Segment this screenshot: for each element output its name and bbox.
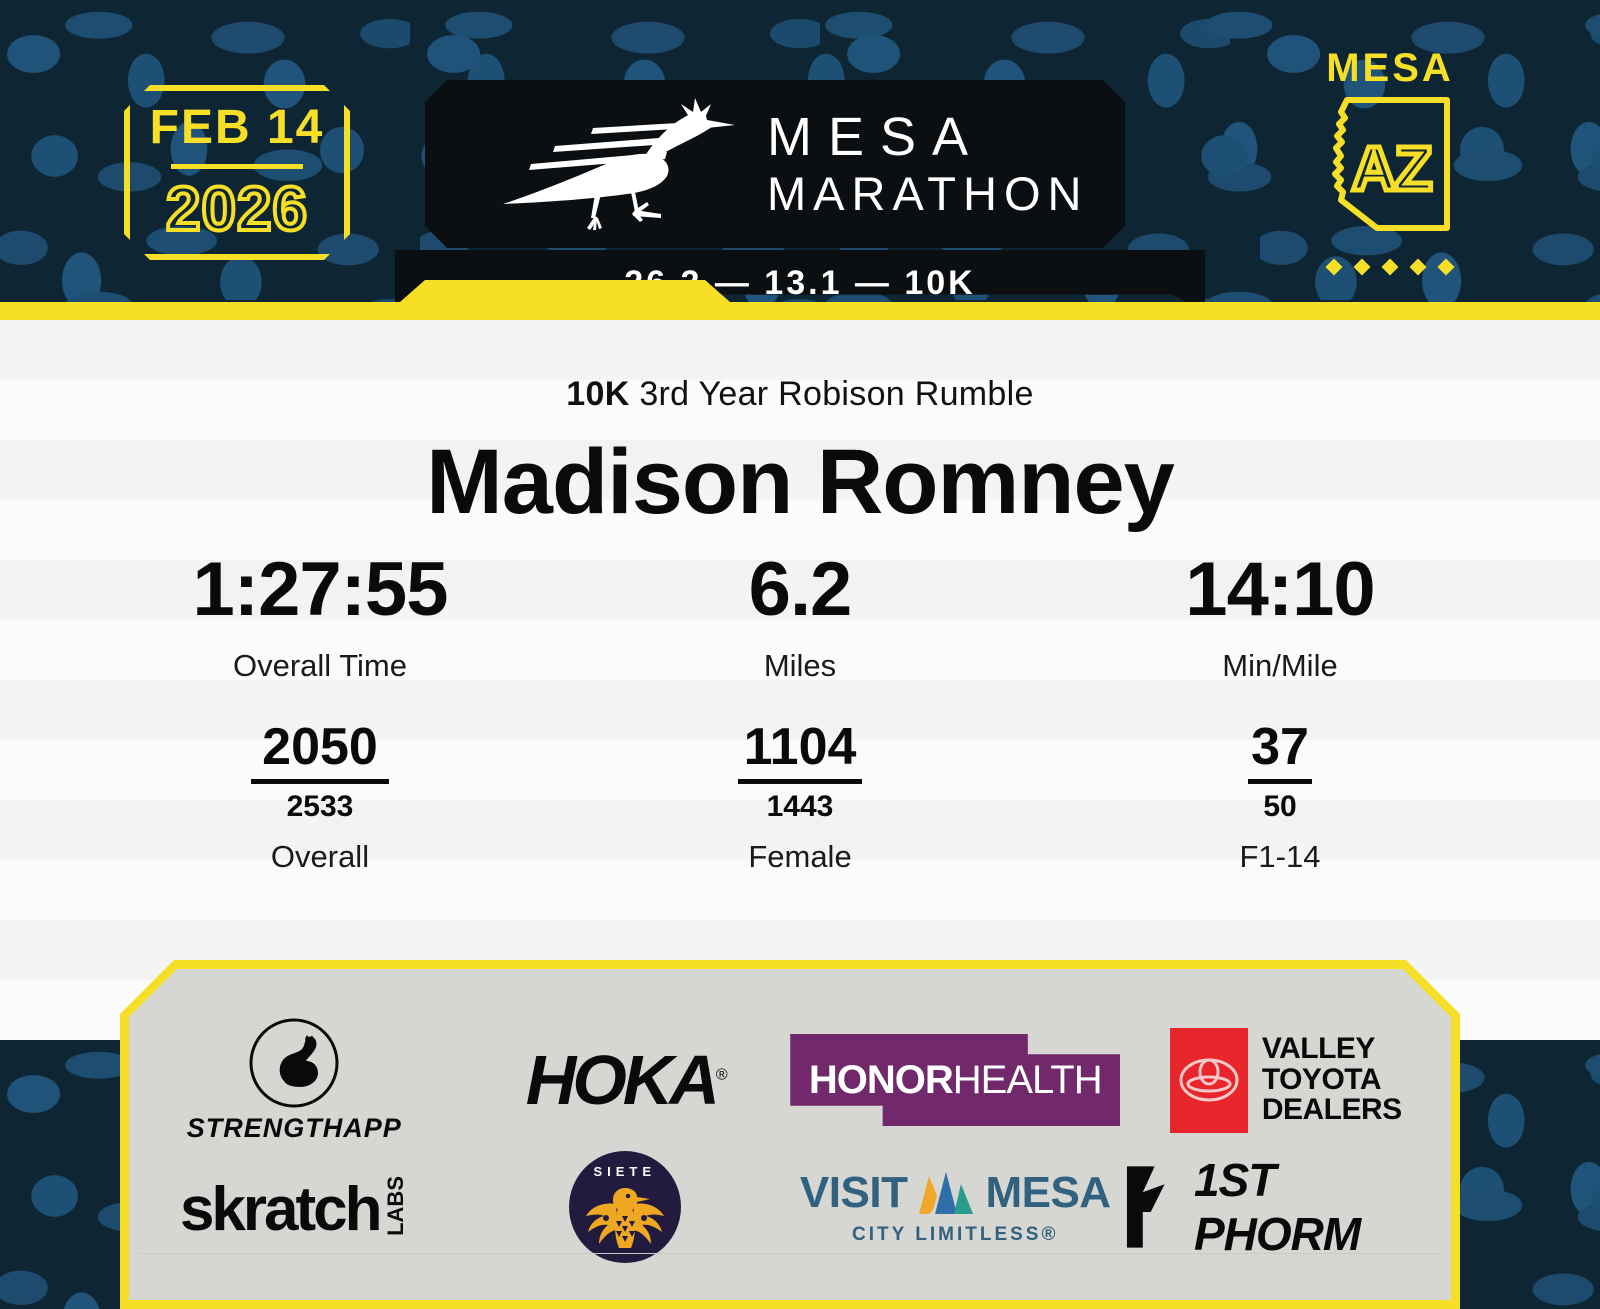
race-name-label: 3rd Year Robison Rumble <box>630 375 1034 413</box>
stat-caption: Min/Mile <box>1042 648 1517 684</box>
stat-value: 14:10 <box>1042 552 1517 628</box>
sponsor-visit-mesa: VISIT MESA CITY LIMITLESS® <box>790 1147 1121 1267</box>
date-badge-rule <box>171 164 303 169</box>
az-dot <box>1438 259 1455 276</box>
race-distance-label: 10K <box>566 375 629 413</box>
arizona-state-outline-icon: AZ <box>1305 88 1475 248</box>
rank-total: 50 <box>1042 790 1517 823</box>
athlete-name: Madison Romney <box>0 430 1600 535</box>
sponsor-1st-phorm: 1ST PHORM <box>1121 1147 1452 1267</box>
siete-bird-icon <box>582 1178 668 1252</box>
svg-text:AZ: AZ <box>1352 135 1432 204</box>
rank-divider <box>738 779 862 784</box>
sponsor-line-2: TOYOTA <box>1262 1065 1402 1096</box>
phorm-mark-icon <box>1121 1164 1178 1250</box>
sponsor-strengthapp: STRENGTHAPP <box>129 1015 460 1145</box>
rank-age-group: 37 50 F1-14 <box>1042 720 1517 875</box>
registered-mark: ® <box>716 1067 724 1084</box>
sponsor-wordmark: SIETE <box>569 1164 681 1179</box>
toyota-emblem-icon <box>1179 1057 1239 1103</box>
sponsor-wordmark: STRENGTHAPP <box>187 1113 402 1144</box>
stat-overall-time: 1:27:55 Overall Time <box>82 552 557 684</box>
sponsor-row-1: STRENGTHAPP HOKA® HONOR HEALTH <box>129 1015 1451 1145</box>
sponsor-wordmark: 1ST PHORM <box>1194 1153 1451 1261</box>
mesa-az-badge: MESA AZ <box>1305 48 1475 288</box>
stat-miles: 6.2 Miles <box>562 552 1037 684</box>
sponsor-word-visit: VISIT <box>800 1168 908 1218</box>
az-badge-dots <box>1305 261 1475 273</box>
stat-caption: Miles <box>562 648 1037 684</box>
sponsor-wordmark: HOKA <box>526 1041 716 1119</box>
rank-total: 2533 <box>82 790 557 823</box>
sponsor-panel-inner: STRENGTHAPP HOKA® HONOR HEALTH <box>129 969 1451 1300</box>
race-results-card: FEB 14 2026 <box>0 0 1600 1309</box>
sponsor-tagline: CITY LIMITLESS® <box>852 1224 1058 1246</box>
sponsor-line-3: DEALERS <box>1262 1095 1402 1126</box>
sponsor-wordmark: skratch <box>180 1182 380 1238</box>
stat-value: 1:27:55 <box>82 552 557 628</box>
sponsor-honorhealth: HONOR HEALTH <box>790 1015 1121 1145</box>
sponsor-divider <box>139 1253 1441 1254</box>
rank-label: F1-14 <box>1042 839 1517 875</box>
rank-place: 37 <box>1245 720 1315 775</box>
stat-value: 6.2 <box>562 552 1037 628</box>
sponsor-line-1: VALLEY <box>1262 1034 1402 1065</box>
sponsor-wordmark-light: HEALTH <box>953 1058 1102 1103</box>
rank-divider <box>251 779 389 784</box>
rank-place: 1104 <box>738 720 863 775</box>
mesa-marathon-wordmark: MESA MARATHON <box>767 108 1088 219</box>
logo-line-mesa: MESA <box>767 108 1088 167</box>
rank-label: Overall <box>82 839 557 875</box>
results-main-panel: 10K 3rd Year Robison Rumble Madison Romn… <box>0 320 1600 1020</box>
primary-stats-row: 1:27:55 Overall Time 6.2 Miles 14:10 Min… <box>80 552 1520 684</box>
az-badge-mesa-label: MESA <box>1305 48 1475 88</box>
sponsor-valley-toyota-dealers: VALLEY TOYOTA DEALERS <box>1121 1015 1452 1145</box>
race-date-monthday: FEB 14 <box>150 104 325 152</box>
stat-caption: Overall Time <box>82 648 557 684</box>
az-dot <box>1354 259 1371 276</box>
sponsor-panel: STRENGTHAPP HOKA® HONOR HEALTH <box>120 960 1460 1309</box>
sponsor-hoka: HOKA® <box>460 1015 791 1145</box>
logo-line-marathon: MARATHON <box>767 168 1088 220</box>
race-date-year: 2026 <box>166 179 308 241</box>
race-date-badge: FEB 14 2026 <box>124 85 350 260</box>
rank-place: 2050 <box>256 720 384 775</box>
sponsor-word-mesa: MESA <box>985 1168 1110 1218</box>
sponsor-subwordmark: LABS <box>383 1176 409 1236</box>
flexed-bicep-icon <box>248 1017 340 1109</box>
rank-divider <box>1248 779 1312 784</box>
sponsor-skratch-labs: skratch LABS <box>129 1147 460 1267</box>
stat-pace: 14:10 Min/Mile <box>1042 552 1517 684</box>
az-dot <box>1382 259 1399 276</box>
rank-label: Female <box>562 839 1037 875</box>
roadrunner-icon <box>495 94 745 234</box>
header: FEB 14 2026 <box>0 0 1600 320</box>
mesa-marathon-logo: MESA MARATHON <box>425 80 1125 248</box>
az-dot <box>1326 259 1343 276</box>
rank-overall: 2050 2533 Overall <box>82 720 557 875</box>
race-title: 10K 3rd Year Robison Rumble <box>0 375 1600 414</box>
rank-female: 1104 1443 Female <box>562 720 1037 875</box>
rank-total: 1443 <box>562 790 1037 823</box>
az-dot <box>1410 259 1427 276</box>
sponsor-wordmark-bold: HONOR <box>809 1058 953 1103</box>
placement-row: 2050 2533 Overall 1104 1443 Female 37 50… <box>80 720 1520 875</box>
sponsor-row-2: skratch LABS SIETE <box>129 1147 1451 1267</box>
mesa-mountains-icon <box>915 1170 977 1216</box>
sponsor-siete: SIETE <box>460 1147 791 1267</box>
